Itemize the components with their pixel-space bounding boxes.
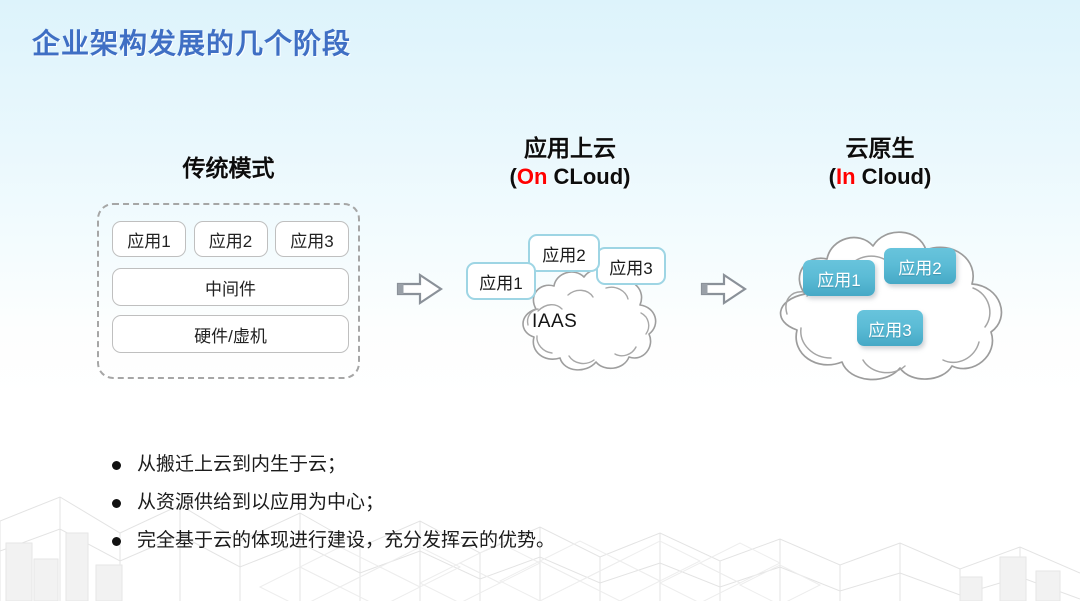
incloud-app3-box[interactable]: 应用3 xyxy=(857,310,923,346)
traditional-app3-label: 应用3 xyxy=(290,227,333,252)
heading-on-cloud-line1: 应用上云 xyxy=(440,134,700,163)
incloud-app1-label: 应用1 xyxy=(817,266,860,291)
oncloud-app2-label: 应用2 xyxy=(542,241,585,266)
bullet-text: 完全基于云的体现进行建设，充分发挥云的优势。 xyxy=(137,529,555,553)
incloud-app2-label: 应用2 xyxy=(898,254,941,279)
page-title: 企业架构发展的几个阶段 xyxy=(32,22,351,62)
heading-on-cloud-line2: (On CLoud) xyxy=(440,163,700,191)
oncloud-app3-label: 应用3 xyxy=(609,254,652,279)
slide-canvas: 企业架构发展的几个阶段 传统模式 应用1 应用2 应用3 中间件 硬件/虚机 xyxy=(0,0,1080,601)
heading-on-cloud: 应用上云 (On CLoud) xyxy=(440,134,700,190)
list-item: 完全基于云的体现进行建设，充分发挥云的优势。 xyxy=(112,529,732,553)
incloud-app2-box[interactable]: 应用2 xyxy=(884,248,956,284)
incloud-app3-label: 应用3 xyxy=(868,316,911,341)
incloud-app1-box[interactable]: 应用1 xyxy=(803,260,875,296)
iaas-label: IAAS xyxy=(532,311,577,333)
bullet-text: 从资源供给到以应用为中心； xyxy=(137,491,384,515)
bullet-text: 从搬迁上云到内生于云； xyxy=(137,453,346,477)
oncloud-app1-box[interactable]: 应用1 xyxy=(466,262,536,300)
heading-cloud-native-rest: Cloud xyxy=(856,164,924,189)
oncloud-app2-box[interactable]: 应用2 xyxy=(528,234,600,272)
traditional-hardware-box[interactable]: 硬件/虚机 xyxy=(112,315,349,353)
heading-on-cloud-rest: CLoud xyxy=(547,164,623,189)
list-item: 从搬迁上云到内生于云； xyxy=(112,453,732,477)
heading-traditional: 传统模式 xyxy=(97,154,360,183)
list-item: 从资源供给到以应用为中心； xyxy=(112,491,732,515)
traditional-app2-label: 应用2 xyxy=(209,227,252,252)
heading-traditional-text: 传统模式 xyxy=(97,154,360,183)
cloud-native-cloud-graphic xyxy=(753,222,1029,382)
traditional-app1-label: 应用1 xyxy=(127,227,170,252)
oncloud-app3-box[interactable]: 应用3 xyxy=(596,247,666,285)
right-arrow-icon xyxy=(396,272,444,306)
paren-open: ( xyxy=(829,164,836,189)
heading-cloud-native-accent: In xyxy=(836,164,856,189)
bullet-dot-icon xyxy=(112,537,121,546)
bullet-dot-icon xyxy=(112,499,121,508)
heading-cloud-native-line1: 云原生 xyxy=(750,134,1010,163)
traditional-app3-box[interactable]: 应用3 xyxy=(275,221,349,257)
traditional-architecture-panel: 应用1 应用2 应用3 中间件 硬件/虚机 xyxy=(97,203,360,379)
heading-on-cloud-accent: On xyxy=(517,164,548,189)
bullet-list: 从搬迁上云到内生于云； 从资源供给到以应用为中心； 完全基于云的体现进行建设，充… xyxy=(112,453,732,566)
bullet-dot-icon xyxy=(112,461,121,470)
heading-cloud-native: 云原生 (In Cloud) xyxy=(750,134,1010,190)
right-arrow-icon xyxy=(700,272,748,306)
paren-open: ( xyxy=(510,164,517,189)
traditional-app-row: 应用1 应用2 应用3 xyxy=(112,221,349,257)
paren-close: ) xyxy=(623,164,630,189)
traditional-middleware-label: 中间件 xyxy=(205,275,256,300)
traditional-hardware-label: 硬件/虚机 xyxy=(194,322,267,347)
traditional-app2-box[interactable]: 应用2 xyxy=(194,221,268,257)
traditional-app1-box[interactable]: 应用1 xyxy=(112,221,186,257)
heading-cloud-native-line2: (In Cloud) xyxy=(750,163,1010,191)
traditional-middleware-box[interactable]: 中间件 xyxy=(112,268,349,306)
oncloud-app1-label: 应用1 xyxy=(479,269,522,294)
paren-close: ) xyxy=(924,164,931,189)
